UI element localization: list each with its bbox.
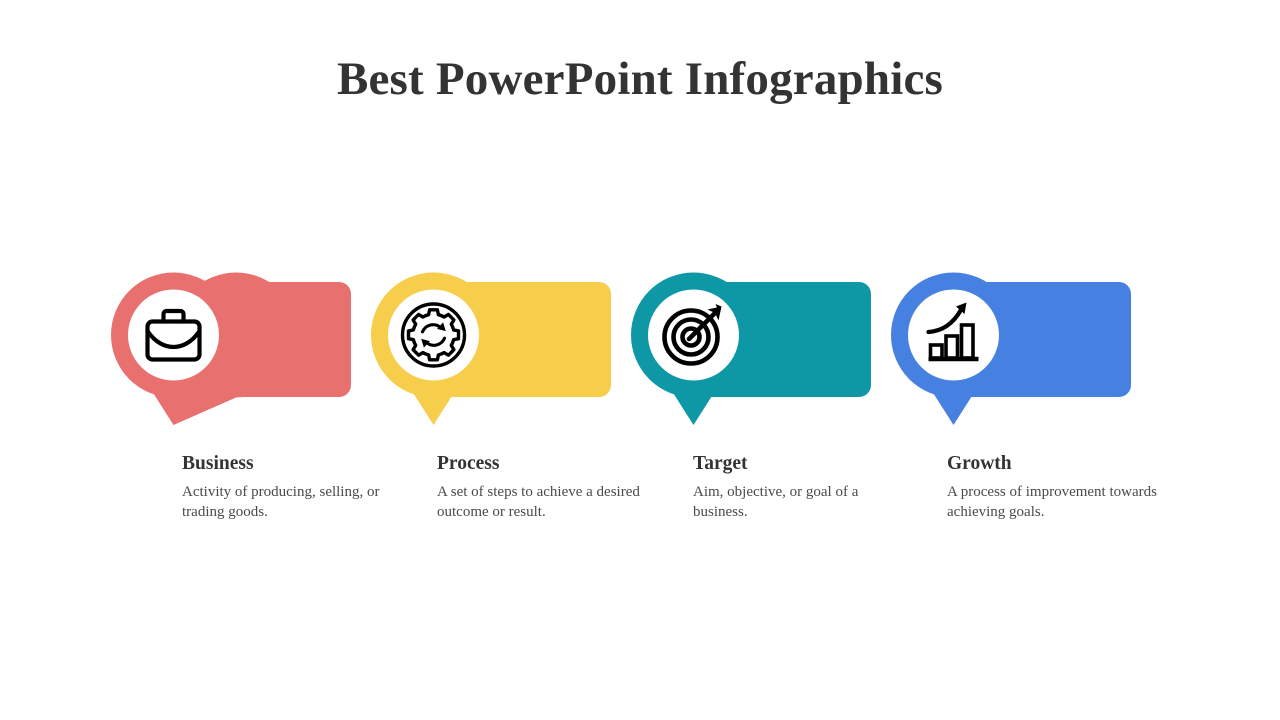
card-graphic-process [365, 265, 625, 440]
infographic-card-row: Business Activity of producing, selling,… [0, 0, 1280, 720]
card-heading-process: Process [437, 453, 652, 474]
slide-canvas: Best PowerPoint Infographics [0, 0, 1280, 720]
infographic-card-process[interactable]: Process A set of steps to achieve a desi… [365, 265, 625, 440]
card-description-growth: A process of improvement towards achievi… [947, 483, 1162, 523]
card-text-growth: Growth A process of improvement towards … [947, 453, 1162, 523]
card-pin-tail [923, 377, 984, 425]
card-graphic-business [105, 265, 365, 440]
card-text-target: Target Aim, objective, or goal of a busi… [693, 453, 908, 523]
card-graphic-growth [885, 265, 1145, 440]
card-text-process: Process A set of steps to achieve a desi… [437, 453, 652, 523]
card-description-target: Aim, objective, or goal of a business. [693, 483, 908, 523]
card-pin-tail [663, 377, 724, 425]
card-pin-inner-circle [128, 290, 219, 381]
card-text-business: Business Activity of producing, selling,… [182, 453, 397, 523]
infographic-card-target[interactable]: Target Aim, objective, or goal of a busi… [625, 265, 885, 440]
card-description-process: A set of steps to achieve a desired outc… [437, 483, 652, 523]
card-description-business: Activity of producing, selling, or tradi… [182, 483, 397, 523]
card-heading-growth: Growth [947, 453, 1162, 474]
infographic-card-business[interactable]: Business Activity of producing, selling,… [105, 265, 365, 440]
card-pin-tail [403, 377, 464, 425]
card-heading-business: Business [182, 453, 397, 474]
card-graphic-target [625, 265, 885, 440]
card-heading-target: Target [693, 453, 908, 474]
infographic-card-growth[interactable]: Growth A process of improvement towards … [885, 265, 1145, 440]
